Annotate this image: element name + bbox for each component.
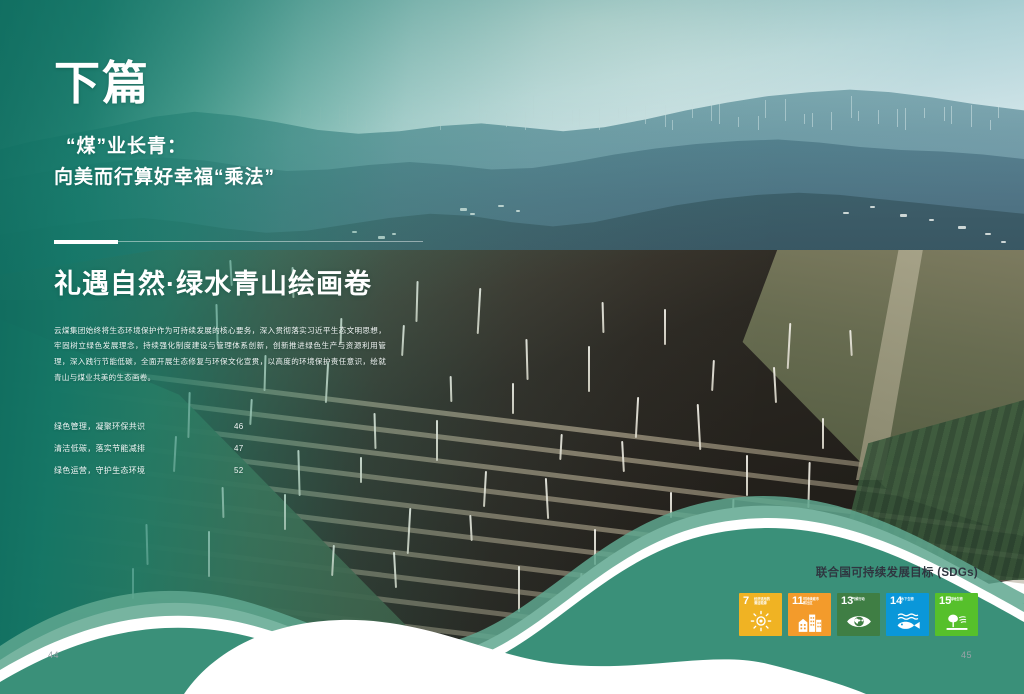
- toc-label: 绿色管理，凝聚环保共识: [54, 423, 234, 431]
- sdg-title: 联合国可持续发展目标 (SDGs): [728, 564, 978, 580]
- sdg-number: 11: [792, 596, 804, 607]
- section-kicker: 下篇: [54, 60, 414, 106]
- toc-row[interactable]: 清洁低碳，落实节能减排47: [54, 438, 354, 460]
- report-section-divider-page: 下篇 “煤”业长青： 向美而行算好幸福“乘法” 礼遇自然·绿水青山绘画卷 云煤集…: [0, 0, 1024, 694]
- sdg-label: 气候行动: [852, 597, 878, 601]
- divider-rule: [54, 240, 1024, 244]
- sdg-label: 陆地生物: [950, 597, 976, 601]
- fish-icon: [886, 609, 929, 633]
- sdg-number: 7: [743, 596, 749, 607]
- toc-row[interactable]: 绿色运营，守护生态环境52: [54, 460, 354, 482]
- sdg-block: 联合国可持续发展目标 (SDGs) 7经济适用的 清洁能源11可持续城市 和社区…: [728, 564, 978, 636]
- sdg-card-7[interactable]: 7经济适用的 清洁能源: [739, 593, 782, 636]
- page-number-left: 44: [48, 650, 59, 660]
- sdg-card-13[interactable]: 13气候行动: [837, 593, 880, 636]
- city-icon: [788, 609, 831, 633]
- sdg-label: 水下生物: [901, 597, 927, 601]
- toc-page-number: 52: [234, 467, 274, 475]
- toc-row[interactable]: 绿色管理，凝聚环保共识46: [54, 416, 354, 438]
- toc-page-number: 47: [234, 445, 274, 453]
- sun-icon: [739, 609, 782, 633]
- toc-label: 绿色运营，守护生态环境: [54, 467, 234, 475]
- page-number-right: 45: [961, 650, 972, 660]
- section-body-text: 云煤集团始终将生态环境保护作为可持续发展的核心要务，深入贯彻落实习近平生态文明思…: [54, 323, 386, 387]
- section-heading: 礼遇自然·绿水青山绘画卷: [54, 262, 414, 301]
- sdg-card-15[interactable]: 15陆地生物: [935, 593, 978, 636]
- sdg-card-11[interactable]: 11可持续城市 和社区: [788, 593, 831, 636]
- eye-globe-icon: [837, 609, 880, 633]
- subtitle-line-1: “煤”业长青：: [54, 132, 414, 163]
- sdg-icon-row: 7经济适用的 清洁能源11可持续城市 和社区13气候行动14水下生物15陆地生物: [728, 593, 978, 636]
- divider-rule-strong: [54, 240, 118, 244]
- tree-icon: [935, 609, 978, 633]
- divider-rule-thin: [118, 241, 423, 242]
- text-column: 下篇 “煤”业长青： 向美而行算好幸福“乘法” 礼遇自然·绿水青山绘画卷 云煤集…: [54, 60, 414, 482]
- table-of-contents: 绿色管理，凝聚环保共识46清洁低碳，落实节能减排47绿色运营，守护生态环境52: [54, 416, 354, 482]
- sdg-label: 经济适用的 清洁能源: [754, 597, 780, 606]
- toc-label: 清洁低碳，落实节能减排: [54, 445, 234, 453]
- section-subtitle: “煤”业长青： 向美而行算好幸福“乘法”: [54, 132, 414, 194]
- toc-page-number: 46: [234, 423, 274, 431]
- subtitle-line-2: 向美而行算好幸福“乘法”: [54, 163, 414, 194]
- sdg-label: 可持续城市 和社区: [803, 597, 829, 606]
- sdg-card-14[interactable]: 14水下生物: [886, 593, 929, 636]
